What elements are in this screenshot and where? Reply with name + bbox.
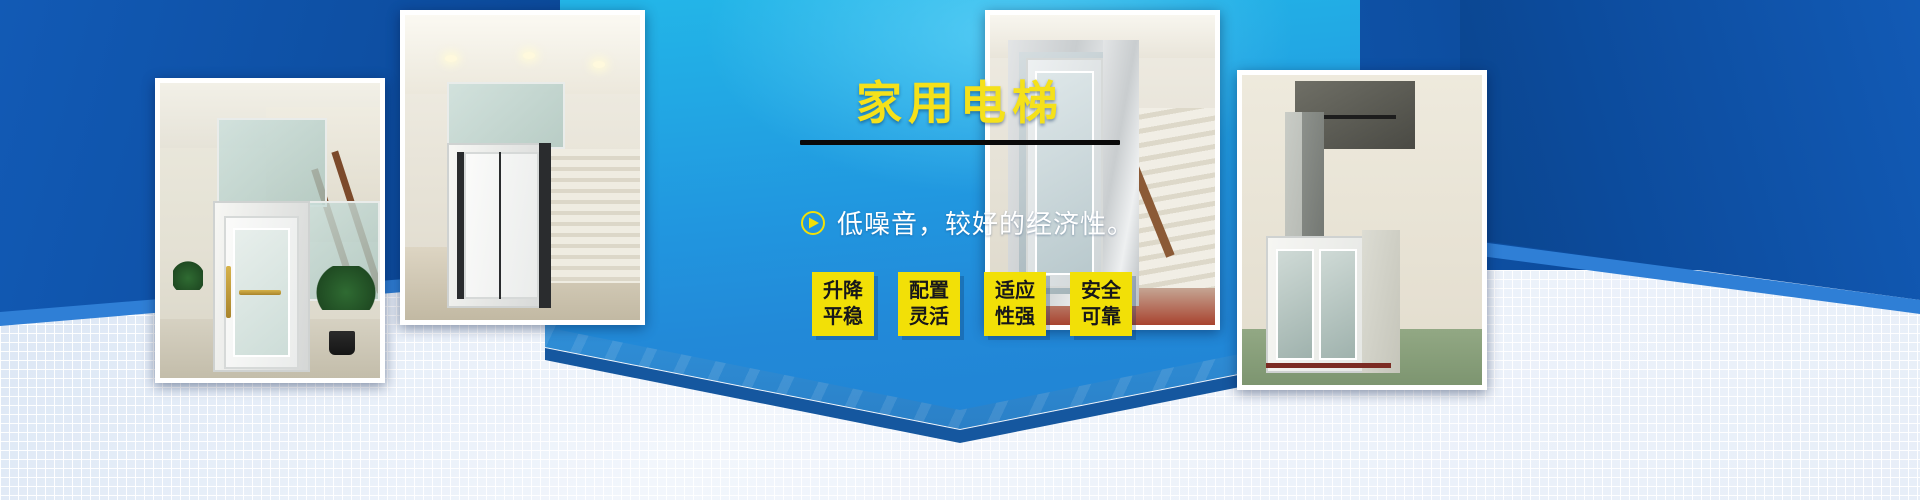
badge-line-1: 配置 [909, 278, 949, 304]
photo-elevator-under-installation [1237, 70, 1487, 390]
subtitle-row: 低噪音，较好的经济性。 [800, 204, 1220, 241]
badge-line-1: 安全 [1081, 278, 1121, 304]
badge-line-1: 升降 [823, 278, 863, 304]
badge-line-2: 可靠 [1081, 304, 1121, 330]
subtitle-text: 低噪音，较好的经济性。 [837, 204, 1134, 241]
badge-safe-reliable[interactable]: 安全 可靠 [1070, 272, 1132, 336]
home-elevator-banner: 家用电梯 低噪音，较好的经济性。 升降 平稳 配置 灵活 适应 性强 安全 可靠 [0, 0, 1920, 500]
feature-badge-list: 升降 平稳 配置 灵活 适应 性强 安全 可靠 [812, 272, 1132, 336]
badge-flexible-config[interactable]: 配置 灵活 [898, 272, 960, 336]
badge-line-2: 平稳 [823, 304, 863, 330]
badge-smooth-lift[interactable]: 升降 平稳 [812, 272, 874, 336]
photo-indoor-elevator-beside-staircase [400, 10, 645, 325]
circle-play-arrow-icon [800, 210, 826, 236]
badge-adaptability[interactable]: 适应 性强 [984, 272, 1046, 336]
title-divider [800, 140, 1120, 145]
photo-glass-home-elevator-with-plant [155, 78, 385, 383]
badge-line-2: 性强 [995, 304, 1035, 330]
badge-line-2: 灵活 [909, 304, 949, 330]
badge-line-1: 适应 [995, 278, 1035, 304]
page-title: 家用电梯 [700, 78, 1220, 129]
